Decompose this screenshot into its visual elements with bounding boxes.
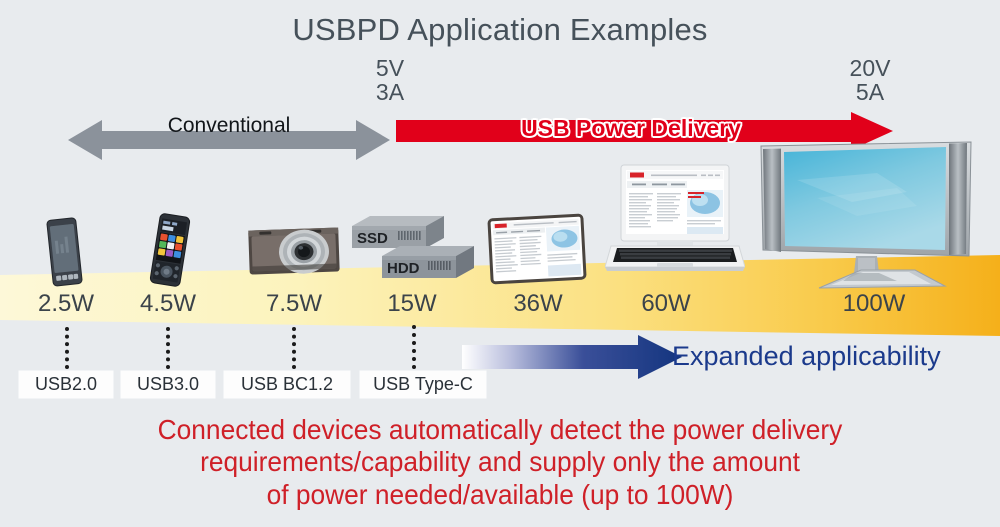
device-smartphone-dark — [42, 216, 86, 288]
device-laptop — [605, 163, 745, 275]
standard-box-usb20: USB2.0 — [19, 371, 113, 398]
usb-power-delivery-label: USB Power Delivery — [396, 115, 866, 142]
connector-line-0 — [65, 327, 73, 369]
watt-label-6: 100W — [820, 290, 928, 318]
conventional-arrow: Conventional — [68, 118, 390, 162]
expanded-applicability-arrow — [462, 335, 682, 379]
voltage-right-volts: 20V — [825, 56, 915, 80]
connector-line-3 — [412, 325, 420, 369]
watt-label-1: 4.5W — [122, 290, 214, 318]
caption-line-3: of power needed/available (up to 100W) — [30, 479, 970, 511]
ssd-label: SSD — [357, 230, 388, 247]
watt-label-0: 2.5W — [20, 290, 112, 318]
caption-line-1: Connected devices automatically detect t… — [30, 414, 970, 446]
ssd-unit: SSD — [352, 216, 444, 248]
caption-line-2: requirements/capability and supply only … — [30, 446, 970, 478]
conventional-arrow-label: Conventional — [68, 114, 390, 138]
watt-label-4: 36W — [492, 290, 584, 318]
device-smartphone-color — [146, 212, 194, 288]
summary-caption: Connected devices automatically detect t… — [30, 414, 970, 511]
connector-line-2 — [292, 327, 300, 369]
watt-label-3: 15W — [372, 290, 452, 318]
voltage-left-amps: 3A — [345, 80, 435, 104]
device-tablet — [485, 213, 589, 285]
voltage-left-volts: 5V — [345, 56, 435, 80]
device-ssd-hdd-drives: SSD HDD — [348, 212, 474, 288]
watt-label-5: 60W — [620, 290, 712, 318]
connector-line-1 — [166, 327, 174, 369]
infographic-canvas: USBPD Application Examples 5V 3A 20V 5A … — [0, 0, 1000, 527]
hdd-unit: HDD — [382, 246, 474, 278]
expanded-applicability-label: Expanded applicability — [672, 341, 941, 372]
voltage-left: 5V 3A — [345, 56, 435, 104]
device-digital-camera — [246, 221, 344, 283]
hdd-label: HDD — [387, 260, 420, 277]
page-title: USBPD Application Examples — [0, 12, 1000, 48]
standard-box-usbbc12: USB BC1.2 — [224, 371, 350, 398]
standard-box-usb30: USB3.0 — [121, 371, 215, 398]
voltage-right: 20V 5A — [825, 56, 915, 104]
voltage-right-amps: 5A — [825, 80, 915, 104]
watt-label-2: 7.5W — [248, 290, 340, 318]
device-monitor — [757, 140, 975, 292]
